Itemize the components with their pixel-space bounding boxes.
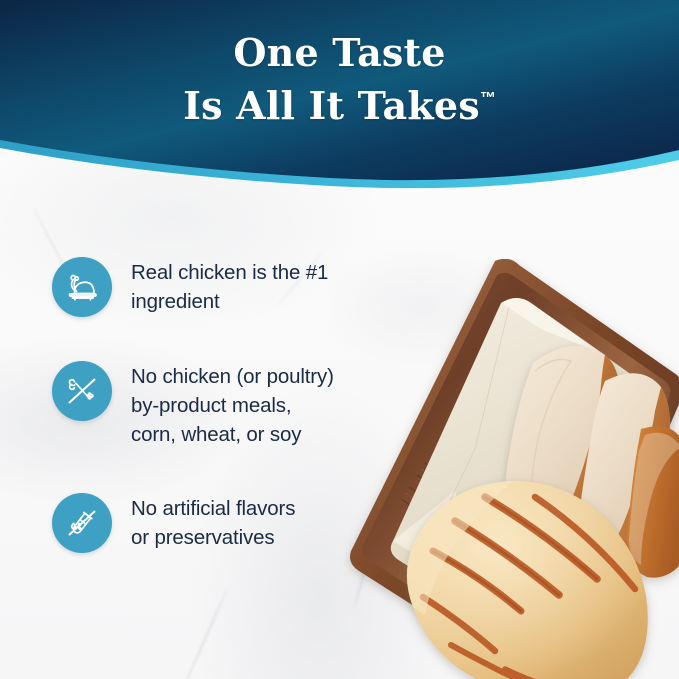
promo-card: One Taste Is All It Takes™ xyxy=(0,0,679,679)
roast-chicken-icon xyxy=(52,257,112,317)
no-test-tube-icon xyxy=(52,493,112,553)
marble-vein xyxy=(181,588,228,679)
header-banner: One Taste Is All It Takes™ xyxy=(0,0,679,200)
benefit-text: Real chicken is the #1 ingredient xyxy=(131,255,328,316)
benefit-text: No chicken (or poultry) by-product meals… xyxy=(131,359,334,449)
benefit-item: No chicken (or poultry) by-product meals… xyxy=(52,359,382,449)
no-bone-icon xyxy=(52,361,112,421)
benefit-text: No artificial flavors or preservatives xyxy=(131,491,295,552)
benefits-list: Real chicken is the #1 ingredient No chi… xyxy=(52,255,382,595)
benefit-item: Real chicken is the #1 ingredient xyxy=(52,255,382,317)
benefit-item: No artificial flavors or preservatives xyxy=(52,491,382,553)
